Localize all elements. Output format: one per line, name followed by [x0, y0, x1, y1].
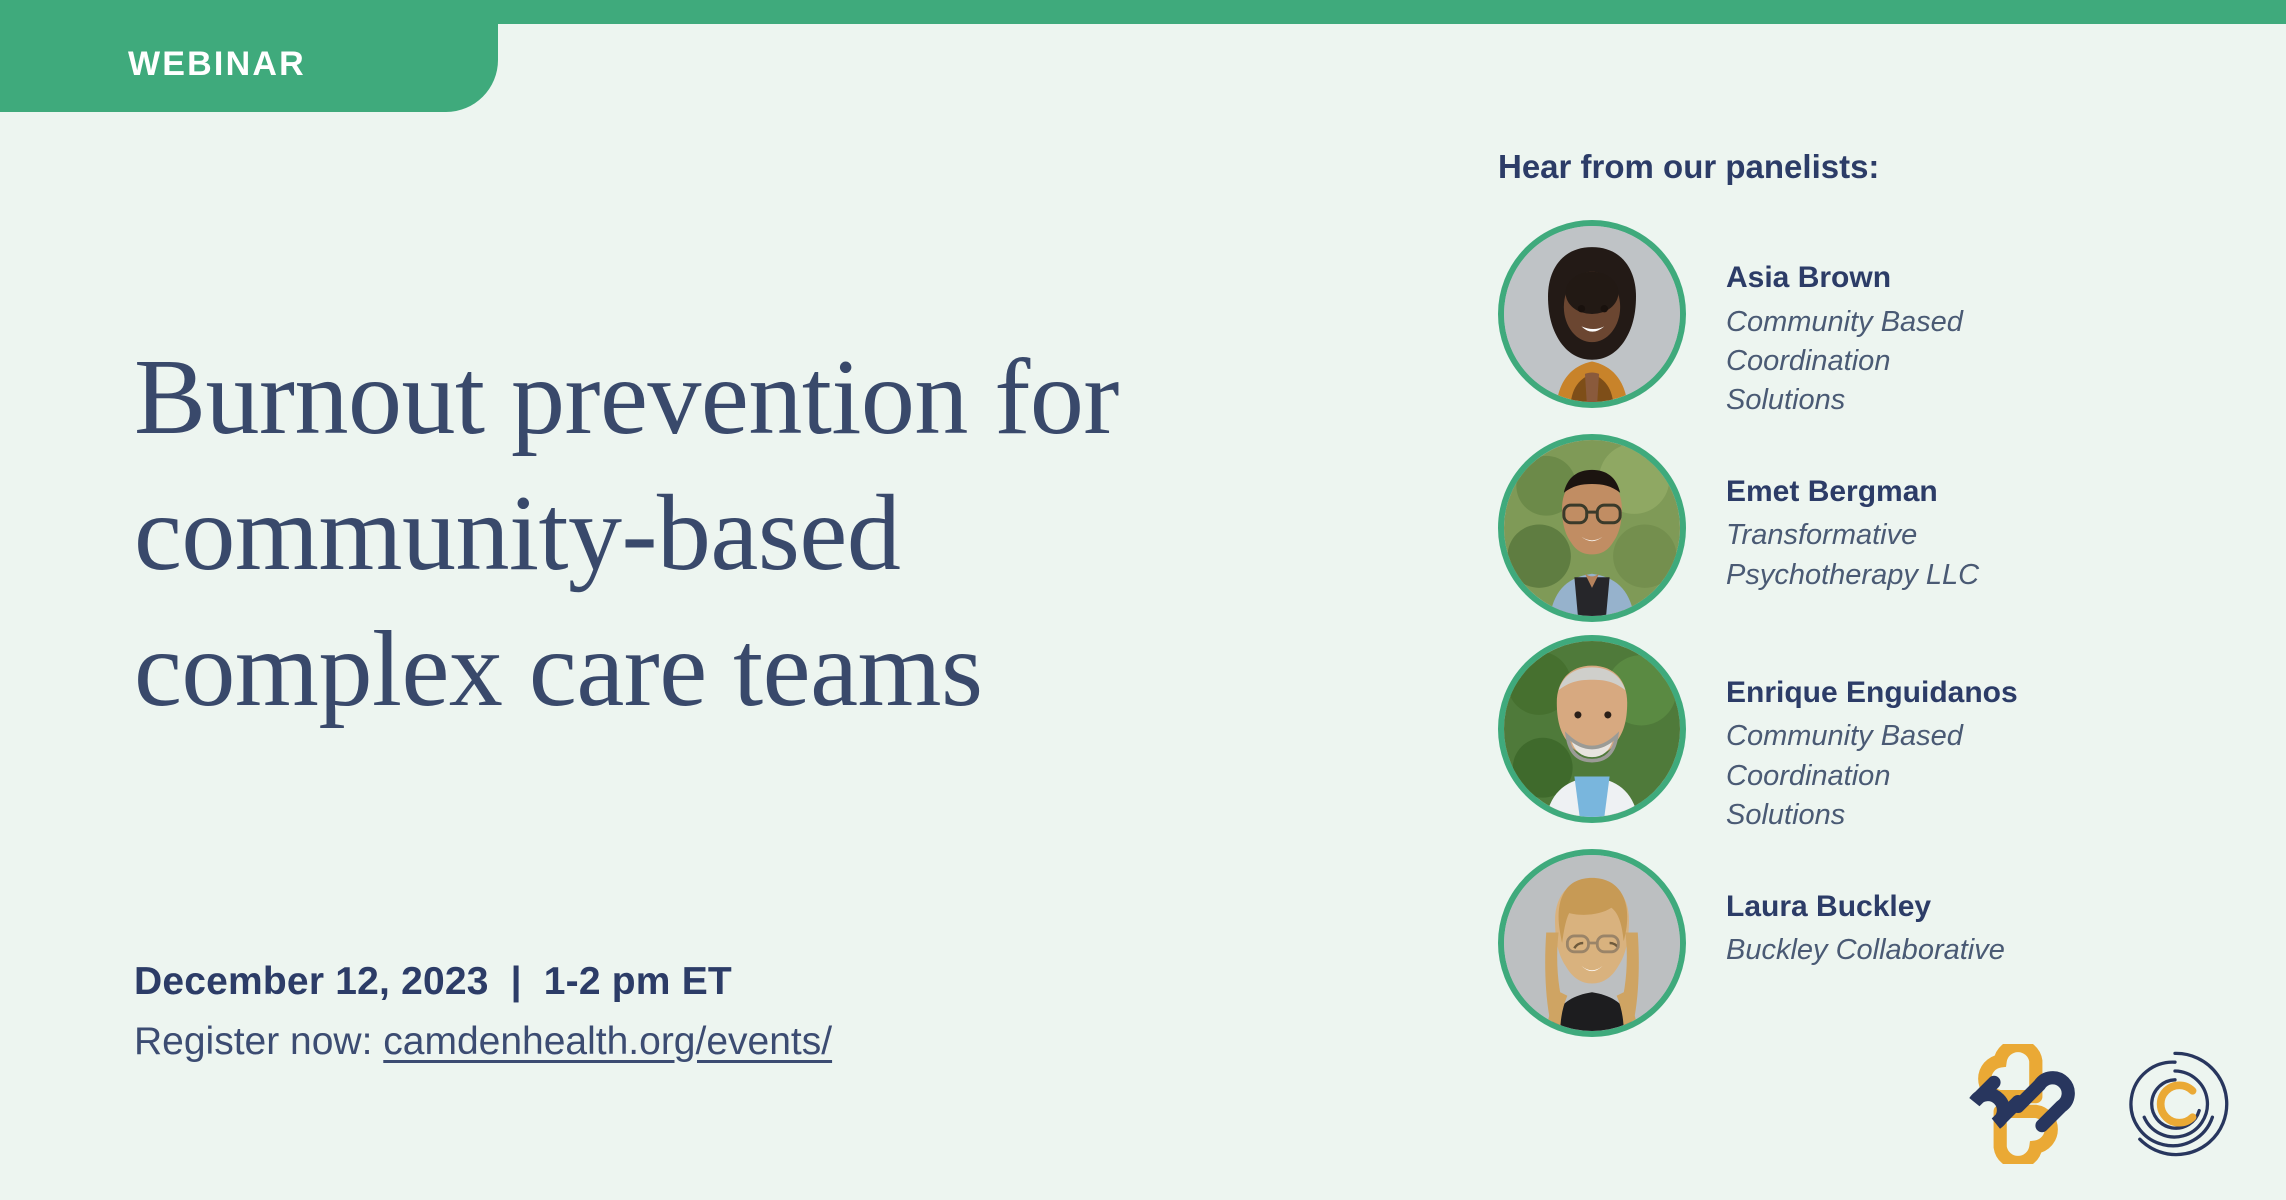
event-date: December 12, 2023: [134, 960, 489, 1003]
panelist-org: Buckley Collaborative: [1726, 931, 2005, 970]
panelists-section: Hear from our panelists: Asia Brown Comm…: [1498, 148, 2218, 1050]
portrait-laura-buckley-image: [1504, 855, 1680, 1031]
panelist-org-line: Psychotherapy LLC: [1726, 556, 1979, 595]
panelist-name: Enrique Enguidanos: [1726, 673, 2018, 714]
event-details: December 12, 2023|1-2 pm ET Register now…: [134, 960, 832, 1064]
event-separator: |: [489, 960, 544, 1003]
logo-group: [1958, 1044, 2230, 1164]
interlocking-hearts-logo: [1958, 1044, 2078, 1164]
panelist-row: Emet Bergman Transformative Psychotherap…: [1498, 434, 2218, 622]
avatar: [1498, 849, 1686, 1037]
panelist-org-line: Community Based: [1726, 717, 2018, 756]
register-line: Register now: camdenhealth.org/events/: [134, 1020, 832, 1064]
panelist-org-line: Solutions: [1726, 381, 1963, 420]
panelist-info: Emet Bergman Transformative Psychotherap…: [1686, 434, 1979, 595]
panelist-org: Transformative Psychotherapy LLC: [1726, 516, 1979, 595]
event-time: 1-2 pm ET: [544, 960, 732, 1003]
panelist-org: Community Based Coordination Solutions: [1726, 717, 2018, 835]
avatar: [1498, 220, 1686, 408]
panelist-info: Asia Brown Community Based Coordination …: [1686, 220, 1963, 421]
panelist-name: Emet Bergman: [1726, 472, 1979, 513]
panelist-name: Asia Brown: [1726, 258, 1963, 299]
webinar-badge-label: WEBINAR: [0, 29, 306, 84]
register-link[interactable]: camdenhealth.org/events/: [383, 1020, 832, 1063]
headline-line-2: community-based: [134, 466, 1364, 602]
event-datetime: December 12, 2023|1-2 pm ET: [134, 960, 832, 1004]
panelist-info: Enrique Enguidanos Community Based Coord…: [1686, 635, 2018, 836]
headline-line-1: Burnout prevention for: [134, 330, 1364, 466]
register-prefix: Register now:: [134, 1020, 383, 1063]
avatar: [1498, 434, 1686, 622]
headline-block: Burnout prevention for community-based c…: [134, 330, 1364, 738]
panelist-row: Enrique Enguidanos Community Based Coord…: [1498, 635, 2218, 836]
portrait-enrique-enguidanos-image: [1504, 641, 1680, 817]
panelist-row: Laura Buckley Buckley Collaborative: [1498, 849, 2218, 1037]
concentric-c-logo: [2120, 1049, 2230, 1159]
page-title: Burnout prevention for community-based c…: [134, 330, 1364, 738]
webinar-badge: WEBINAR: [0, 0, 498, 112]
panelist-info: Laura Buckley Buckley Collaborative: [1686, 849, 2005, 971]
panelist-org-line: Transformative: [1726, 516, 1979, 555]
portrait-asia-brown-image: [1504, 226, 1680, 402]
panelist-row: Asia Brown Community Based Coordination …: [1498, 220, 2218, 421]
panelist-org-line: Buckley Collaborative: [1726, 931, 2005, 970]
portrait-emet-bergman-image: [1504, 440, 1680, 616]
headline-line-3: complex care teams: [134, 602, 1364, 738]
panelist-org: Community Based Coordination Solutions: [1726, 303, 1963, 421]
panelist-org-line: Community Based: [1726, 303, 1963, 342]
panelist-name: Laura Buckley: [1726, 887, 2005, 928]
avatar: [1498, 635, 1686, 823]
panelist-org-line: Coordination: [1726, 757, 2018, 796]
panelist-org-line: Coordination: [1726, 342, 1963, 381]
panelists-heading: Hear from our panelists:: [1498, 148, 2218, 186]
panelist-org-line: Solutions: [1726, 796, 2018, 835]
